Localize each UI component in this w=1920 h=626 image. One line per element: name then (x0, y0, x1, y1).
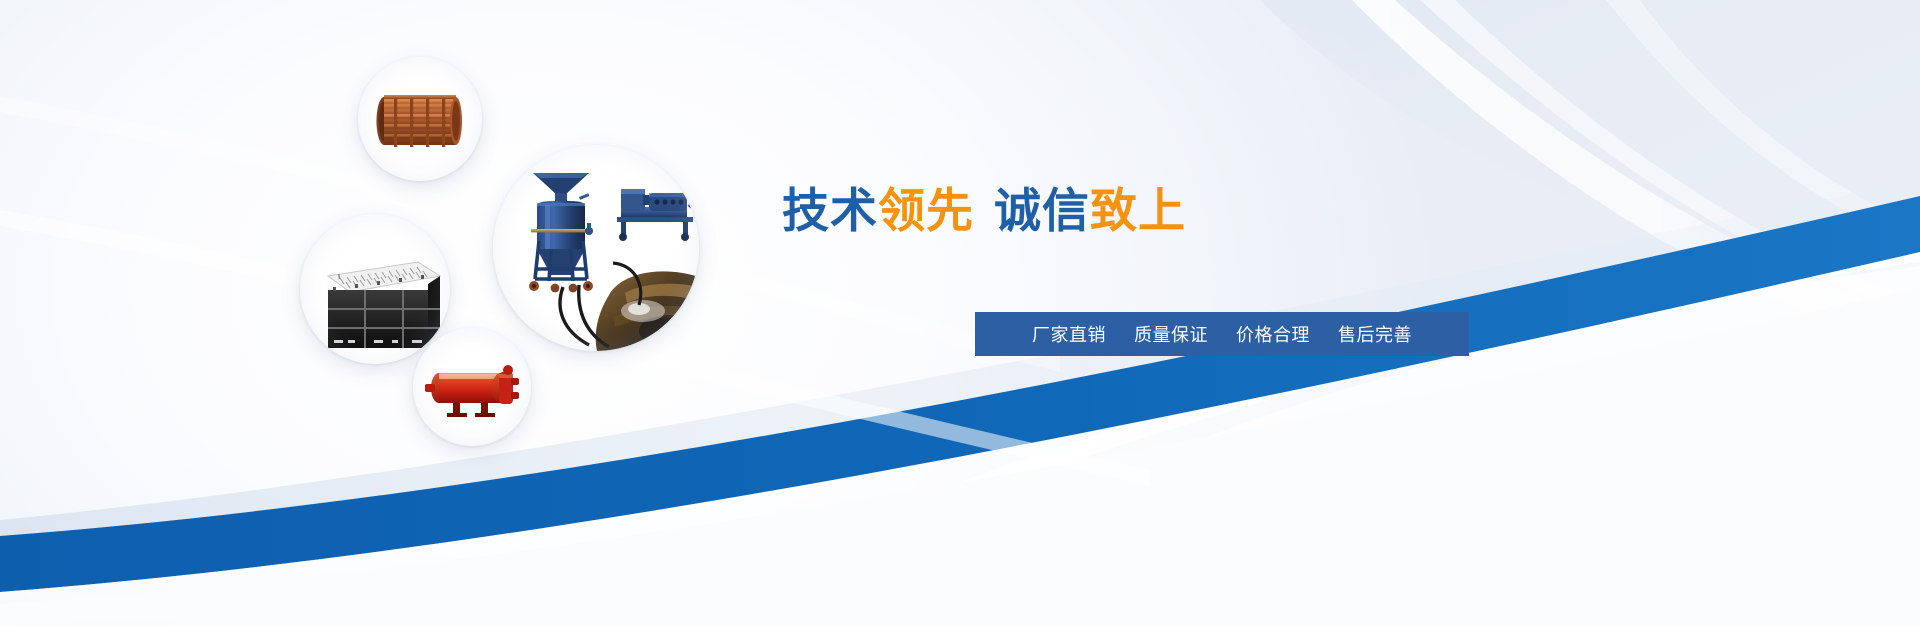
pressure-vessel-image (413, 328, 531, 446)
feature-item-1: 质量保证 (1134, 321, 1208, 347)
headline-segment-1: 技术 (782, 184, 878, 239)
product-circle-tube-bundle (358, 57, 482, 181)
feature-bar: 厂家直销 质量保证 价格合理 售后完善 (975, 312, 1469, 356)
tube-bundle-image (358, 57, 482, 181)
blasting-machine-image (493, 145, 699, 351)
headline-segment-4: 致上 (1090, 184, 1186, 239)
background-decoration (0, 0, 1920, 626)
headline: 技术领先诚信致上 (782, 188, 1186, 235)
feature-item-0: 厂家直销 (1032, 321, 1106, 347)
feature-item-2: 价格合理 (1236, 321, 1310, 347)
headline-segment-2: 领先 (878, 184, 974, 239)
product-circle-blasting-machine (493, 145, 699, 351)
headline-segment-3: 诚信 (994, 184, 1090, 239)
product-circle-pressure-vessel (413, 328, 531, 446)
feature-item-3: 售后完善 (1338, 321, 1412, 347)
promo-banner: 技术领先诚信致上 厂家直销 质量保证 价格合理 售后完善 (0, 0, 1920, 626)
